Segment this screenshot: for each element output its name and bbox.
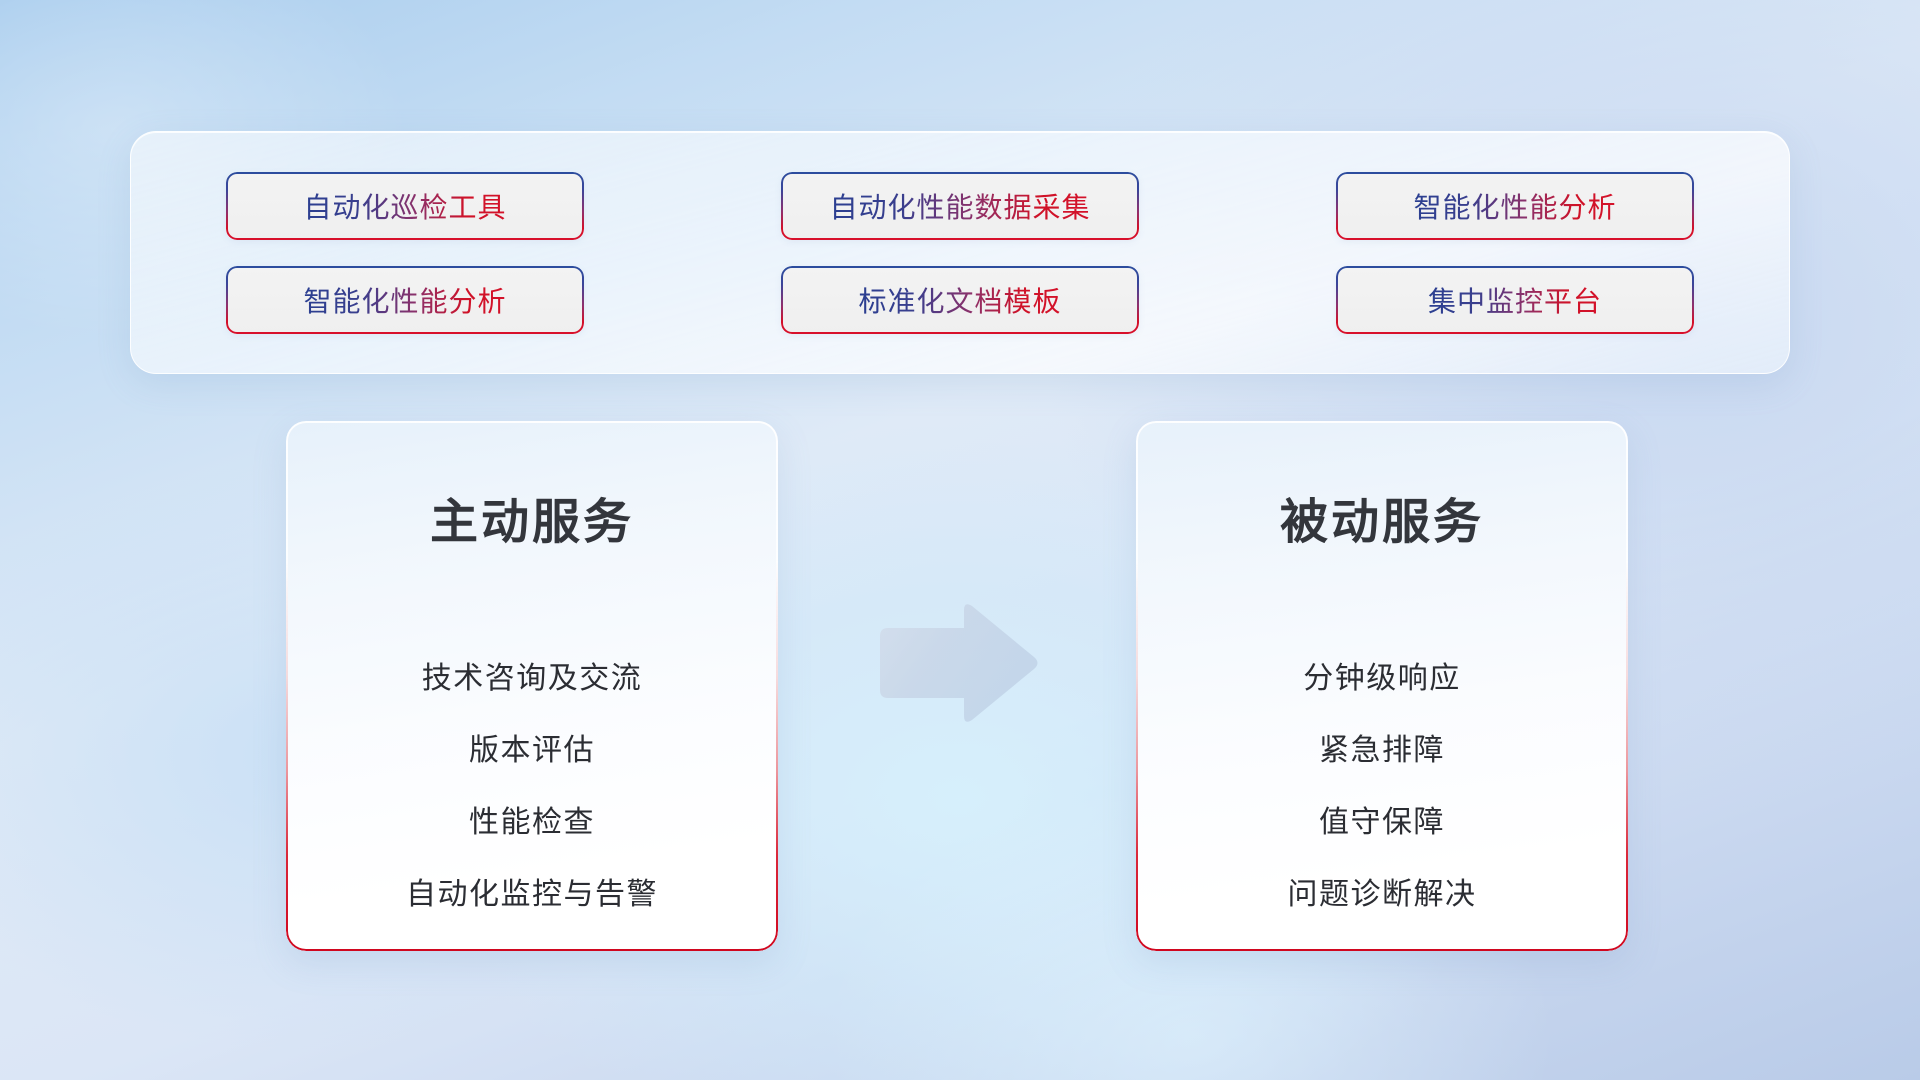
capability-pill[interactable]: 自动化性能数据采集 <box>781 172 1139 240</box>
service-item: 问题诊断解决 <box>1288 859 1477 931</box>
service-item-list: 技术咨询及交流 版本评估 性能检查 自动化监控与告警 健康巡检 <box>286 643 778 951</box>
service-item: 紧急排障 <box>1319 715 1445 787</box>
capability-pills-panel: 自动化巡检工具 自动化性能数据采集 智能化性能分析 智能化性能分析 标准化文档模… <box>130 131 1790 374</box>
capability-pill-label: 智能化性能分析 <box>303 280 506 320</box>
capability-pill-row: 自动化巡检工具 自动化性能数据采集 智能化性能分析 <box>226 172 1694 240</box>
service-item-list: 分钟级响应 紧急排障 值守保障 问题诊断解决 SLA式服务 <box>1136 643 1628 951</box>
capability-pill-label: 标准化文档模板 <box>858 280 1061 320</box>
capability-pill-row: 智能化性能分析 标准化文档模板 集中监控平台 <box>226 266 1694 334</box>
card-title: 被动服务 <box>1280 495 1484 552</box>
capability-pill-label: 集中监控平台 <box>1428 280 1602 320</box>
service-item: 版本评估 <box>469 715 595 787</box>
service-item: 值守保障 <box>1319 787 1445 859</box>
capability-pill[interactable]: 集中监控平台 <box>1336 266 1694 334</box>
service-card-proactive: 主动服务 技术咨询及交流 版本评估 性能检查 自动化监控与告警 健康巡检 <box>286 421 778 951</box>
service-item: 健康巡检 <box>469 931 595 951</box>
card-title: 主动服务 <box>430 495 634 552</box>
service-item: 性能检查 <box>469 787 595 859</box>
right-arrow-icon <box>874 600 1044 728</box>
service-item: 分钟级响应 <box>1303 643 1461 715</box>
capability-pill-label: 智能化性能分析 <box>1413 186 1616 226</box>
service-item: 技术咨询及交流 <box>422 643 643 715</box>
capability-pill[interactable]: 标准化文档模板 <box>781 266 1139 334</box>
service-card-reactive: 被动服务 分钟级响应 紧急排障 值守保障 问题诊断解决 SLA式服务 <box>1136 421 1628 951</box>
capability-pill-label: 自动化巡检工具 <box>303 186 506 226</box>
service-item: 自动化监控与告警 <box>406 859 658 931</box>
service-item: SLA式服务 <box>1304 931 1460 951</box>
capability-pill[interactable]: 智能化性能分析 <box>226 266 584 334</box>
capability-pill[interactable]: 智能化性能分析 <box>1336 172 1694 240</box>
capability-pill[interactable]: 自动化巡检工具 <box>226 172 584 240</box>
capability-pill-label: 自动化性能数据采集 <box>829 186 1090 226</box>
